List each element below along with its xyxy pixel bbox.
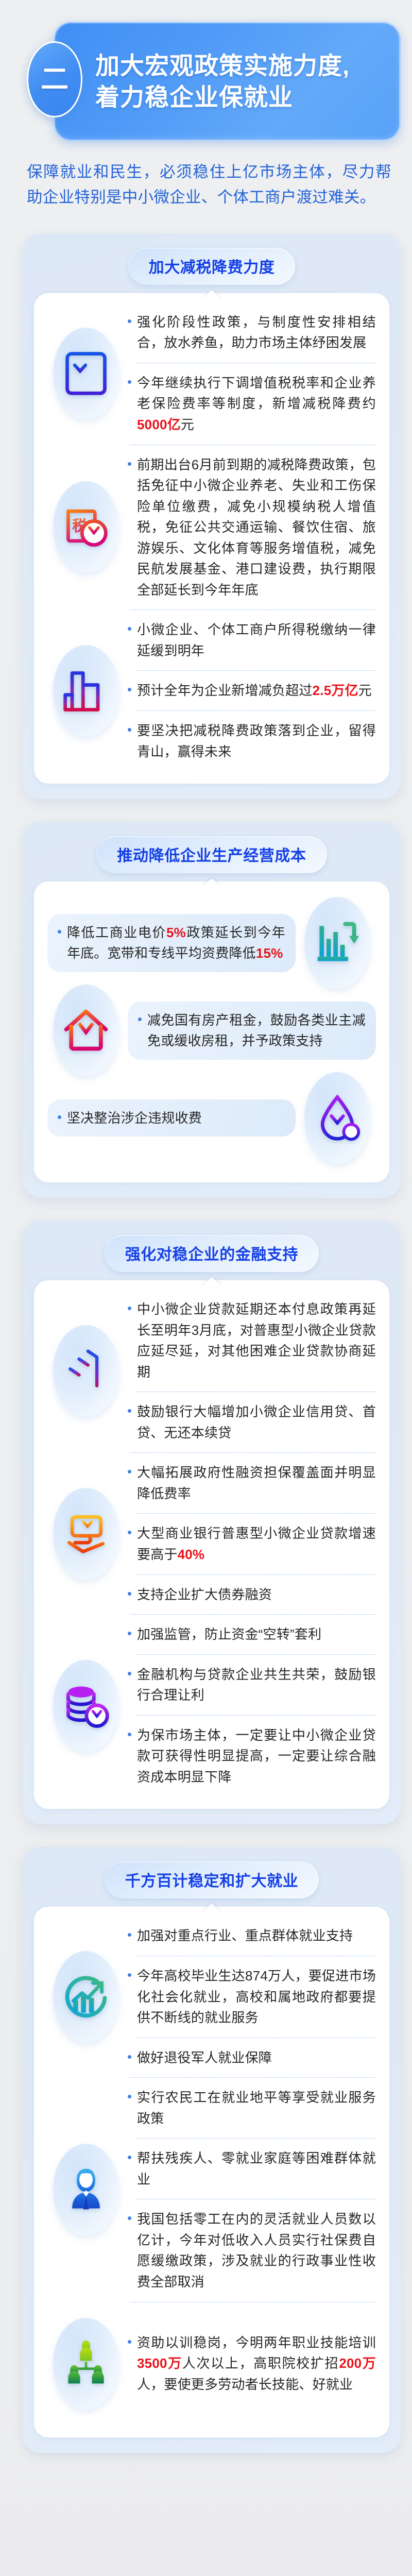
house-yuan-icon (61, 1006, 111, 1055)
highlight-number: 3500万 (137, 2355, 182, 2371)
highlight-number: 40% (178, 1547, 205, 1562)
policy-section: 推动降低企业生产经营成本 降低工商业电价5%政策延长到今年年底。宽带和专线平均资… (23, 822, 401, 1198)
row-icon-wrap: 税 (47, 474, 125, 580)
bullet-dot-icon (58, 1115, 61, 1119)
bullet-list: 实行农民工在就业地平等享受就业服务政策帮扶残疾人、零就业家庭等困难群体就业我国包… (128, 2086, 376, 2293)
bullet-text: 大幅拓展政府性融资担保覆盖面并明显降低费率 (137, 1462, 376, 1504)
bullet-item: 为保市场主体，一定要让中小微企业贷款可获得性明显提高，一定要让综合融资成本明显下… (128, 1724, 376, 1789)
bullet-separator (137, 363, 376, 363)
policy-row: 实行农民工在就业地平等享受就业服务政策帮扶残疾人、零就业家庭等困难群体就业我国包… (47, 2086, 376, 2293)
sections-container: 加大减税降费力度 强化阶段性政策，与制度性安排相结合，放水养鱼，助力市场主体纾困… (0, 233, 412, 2453)
highlight-number: 200万 (339, 2355, 376, 2371)
city-skyline-icon (61, 1346, 111, 1396)
bullet-list: 中小微企业贷款延期还本付息政策再延长至明年3月底，对普惠型小微企业贷款应延尽延，… (128, 1298, 376, 1444)
bullet-item: 降低工商业电价5%政策延长到今年年底。宽带和专线平均资费降低15% (58, 921, 285, 965)
section-body: 加强对重点行业、重点群体就业支持今年高校毕业生达874万人，要促进市场化社会化就… (34, 1907, 389, 2437)
bullet-list: 强化阶段性政策，与制度性安排相结合，放水养鱼，助力市场主体纾困发展今年继续执行下… (128, 311, 376, 436)
row-icon-wrap (47, 2137, 125, 2243)
bullet-list: 小微企业、个体工商户所得税缴纳一律延缓到明年预计全年为企业新增减负超过2.5万亿… (128, 618, 376, 763)
page-header: 加大宏观政策实施力度, 着力稳企业保就业 二 (27, 22, 401, 145)
bullet-dot-icon (128, 1672, 131, 1675)
row-icon-wrap (47, 638, 125, 744)
bullet-item: 做好退役军人就业保障 (128, 2046, 376, 2070)
policy-row: 中小微企业贷款延期还本付息政策再延长至明年3月底，对普惠型小微企业贷款应延尽延，… (47, 1298, 376, 1444)
bullet-item: 我国包括零工在内的灵活就业人员数以亿计，今年对低收入人员实行社保费自愿缓缴政策，… (128, 2208, 376, 2293)
row-icon-wrap (299, 899, 376, 987)
bar-chart-down-icon (313, 918, 362, 968)
bullet-text: 实行农民工在就业地平等享受就业服务政策 (137, 2087, 376, 2129)
bullet-dot-icon (128, 380, 131, 384)
section-body: 中小微企业贷款延期还本付息政策再延长至明年3月底，对普惠型小微企业贷款应延尽延，… (34, 1280, 389, 1809)
bullet-dot-icon (128, 2216, 131, 2220)
row-separator (130, 2077, 376, 2078)
row-icon-wrap (47, 320, 125, 427)
bullet-dot-icon (128, 2156, 131, 2159)
row-separator (130, 609, 376, 610)
row-icon-wrap (47, 987, 125, 1074)
buildings-icon (61, 666, 111, 716)
worker-person-icon (61, 2165, 111, 2214)
bullet-separator (137, 1574, 376, 1575)
policy-row: 小微企业、个体工商户所得税缴纳一律延缓到明年预计全年为企业新增减负超过2.5万亿… (47, 618, 376, 763)
bullet-list: 前期出台6月前到期的减税降费政策，包括免征中小微企业养老、失业和工伤保险单位缴费… (128, 453, 376, 602)
row-icon-wrap (47, 1944, 125, 2050)
row-icon-wrap (299, 1074, 376, 1162)
bullet-dot-icon (128, 1632, 131, 1635)
bullet-item: 预计全年为企业新增减负超过2.5万亿元 (128, 679, 376, 702)
row-separator (130, 2302, 376, 2302)
policy-section: 千方百计稳定和扩大就业 加强对重点行业、重点群体就业支持今年高校毕业生达874万… (23, 1847, 401, 2452)
growth-chart-icon (61, 1972, 111, 2022)
bullet-item: 中小微企业贷款延期还本付息政策再延长至明年3月底，对普惠型小微企业贷款应延尽延，… (128, 1298, 376, 1383)
policy-row: 降低工商业电价5%政策延长到今年年底。宽带和专线平均资费降低15% (47, 899, 376, 987)
policy-row: 大幅拓展政府性融资担保覆盖面并明显降低费率大型商业银行普惠型小微企业贷款增速要高… (47, 1461, 376, 1606)
droplet-yuan-minus-icon (313, 1093, 362, 1143)
section-title: 强化对稳企业的金融支持 (105, 1235, 319, 1272)
bullet-text: 降低工商业电价5%政策延长到今年年底。宽带和专线平均资费降低15% (67, 922, 285, 964)
bullet-item: 小微企业、个体工商户所得税缴纳一律延缓到明年 (128, 618, 376, 662)
bullet-text: 加强监管，防止资金“空转”套利 (137, 1624, 376, 1645)
bullet-item: 强化阶段性政策，与制度性安排相结合，放水养鱼，助力市场主体纾困发展 (128, 311, 376, 354)
bullet-text: 减免国有房产租金，鼓励各类业主减免或缓收房租，并予政策支持 (147, 1010, 366, 1052)
bullet-dot-icon (128, 1409, 131, 1413)
bullet-item: 加强监管，防止资金“空转”套利 (128, 1623, 376, 1646)
row-icon-wrap (47, 1318, 125, 1424)
intro-paragraph: 保障就业和民生，必须稳住上亿市场主体，尽力帮助企业特别是中小微企业、个体工商户渡… (27, 160, 391, 211)
bullet-list: 减免国有房产租金，鼓励各类业主减免或缓收房租，并予政策支持 (128, 1002, 376, 1060)
bullet-text: 金融机构与贷款企业共生共荣，鼓励银行合理让利 (137, 1664, 376, 1706)
bullet-list: 坚决整治涉企违规收费 (47, 1099, 296, 1137)
highlight-number: 5% (166, 925, 186, 940)
highlight-number: 5000亿 (137, 417, 181, 432)
bullet-dot-icon (128, 462, 131, 466)
bullet-list: 降低工商业电价5%政策延长到今年年底。宽带和专线平均资费降低15% (47, 914, 296, 972)
row-separator (130, 1452, 376, 1453)
bullet-dot-icon (128, 688, 131, 691)
bullet-dot-icon (128, 1592, 131, 1596)
bullet-dot-icon (128, 728, 131, 732)
bullet-text: 为保市场主体，一定要让中小微企业贷款可获得性明显提高，一定要让综合融资成本明显下… (137, 1725, 376, 1788)
bullet-separator (137, 710, 376, 711)
bullet-item: 大幅拓展政府性融资担保覆盖面并明显降低费率 (128, 1461, 376, 1505)
bullet-item: 今年高校毕业生达874万人，要促进市场化社会化就业，高校和属地政府都要提供不断线… (128, 1964, 376, 2029)
bullet-separator (137, 1392, 376, 1392)
policy-section: 强化对稳企业的金融支持 中小微企业贷款延期还本付息政策再延长至明年3月底，对普惠… (23, 1221, 401, 1824)
bullet-text: 帮扶残疾人、零就业家庭等困难群体就业 (137, 2148, 376, 2190)
section-title: 加大减税降费力度 (128, 248, 296, 285)
bullet-separator (137, 1513, 376, 1514)
bullet-dot-icon (138, 1018, 142, 1021)
bullet-text: 中小微企业贷款延期还本付息政策再延长至明年3月底，对普惠型小微企业贷款应延尽延，… (137, 1299, 376, 1382)
bullet-dot-icon (128, 2055, 131, 2059)
bullet-text: 预计全年为企业新增减负超过2.5万亿元 (137, 680, 376, 701)
bullet-separator (137, 1654, 376, 1655)
policy-row: 减免国有房产租金，鼓励各类业主减免或缓收房租，并予政策支持 (47, 987, 376, 1074)
section-body: 降低工商业电价5%政策延长到今年年底。宽带和专线平均资费降低15% 减免国有房产… (34, 882, 389, 1182)
tax-yuan-icon: 税 (61, 502, 111, 552)
title-notch-arrow (201, 1904, 222, 1913)
bullet-text: 资助以训稳岗，今明两年职业技能培训3500万人次以上，高职院校扩招200万人，要… (137, 2332, 376, 2395)
bullet-dot-icon (128, 2095, 131, 2098)
bullet-item: 今年继续执行下调增值税税率和企业养老保险费率等制度，新增减税降费约5000亿元 (128, 371, 376, 436)
row-icon-wrap (47, 1481, 125, 1587)
bullet-dot-icon (128, 319, 131, 323)
policy-row: 坚决整治涉企违规收费 (47, 1074, 376, 1162)
bullet-text: 要坚决把减税降费政策落到企业，留得青山，赢得未来 (137, 720, 376, 762)
bullet-text: 今年高校毕业生达874万人，要促进市场化社会化就业，高校和属地政府都要提供不断线… (137, 1965, 376, 2028)
bullet-list: 大幅拓展政府性融资担保覆盖面并明显降低费率大型商业银行普惠型小微企业贷款增速要高… (128, 1461, 376, 1606)
header-banner: 加大宏观政策实施力度, 着力稳企业保就业 (54, 22, 401, 141)
policy-row: 资助以训稳岗，今明两年职业技能培训3500万人次以上，高职院校扩招200万人，要… (47, 2311, 376, 2417)
bullet-separator (137, 2199, 376, 2199)
bullet-separator (137, 1956, 376, 1956)
bullet-dot-icon (128, 1733, 131, 1736)
bullet-text: 坚决整治涉企违规收费 (67, 1108, 285, 1129)
section-body: 强化阶段性政策，与制度性安排相结合，放水养鱼，助力市场主体纾困发展今年继续执行下… (34, 293, 389, 784)
bullet-separator (137, 1715, 376, 1716)
training-people-icon (61, 2339, 111, 2388)
title-notch-arrow (201, 878, 222, 888)
bullet-dot-icon (58, 930, 61, 934)
bullet-text: 强化阶段性政策，与制度性安排相结合，放水养鱼，助力市场主体纾困发展 (137, 312, 376, 353)
bullet-item: 支持企业扩大债券融资 (128, 1583, 376, 1606)
bullet-item: 鼓励银行大幅增加小微企业信用贷、首贷、无还本续贷 (128, 1400, 376, 1444)
hand-money-icon (61, 1509, 111, 1558)
row-icon-wrap (47, 2311, 125, 2417)
bullet-item: 前期出台6月前到期的减税降费政策，包括免征中小微企业养老、失业和工伤保险单位缴费… (128, 453, 376, 602)
bullet-item: 资助以训稳岗，今明两年职业技能培训3500万人次以上，高职院校扩招200万人，要… (128, 2331, 376, 2396)
bullet-item: 坚决整治涉企违规收费 (58, 1107, 285, 1130)
bullet-item: 实行农民工在就业地平等享受就业服务政策 (128, 2086, 376, 2130)
bullet-separator (137, 670, 376, 671)
bullet-dot-icon (128, 1470, 131, 1473)
bullet-text: 支持企业扩大债券融资 (137, 1584, 376, 1605)
bullet-item: 减免国有房产租金，鼓励各类业主减免或缓收房租，并予政策支持 (138, 1009, 366, 1053)
bullet-list: 加强监管，防止资金“空转”套利金融机构与贷款企业共生共荣，鼓励银行合理让利为保市… (128, 1623, 376, 1788)
bullet-item: 要坚决把减税降费政策落到企业，留得青山，赢得未来 (128, 719, 376, 763)
title-notch-arrow (201, 1277, 222, 1286)
bullet-item: 帮扶残疾人、零就业家庭等困难群体就业 (128, 2147, 376, 2191)
bullet-item: 加强对重点行业、重点群体就业支持 (128, 1924, 376, 1947)
page-title-line-2: 着力稳企业保就业 (95, 81, 386, 113)
policy-row: 加强监管，防止资金“空转”套利金融机构与贷款企业共生共荣，鼓励银行合理让利为保市… (47, 1623, 376, 1788)
bullet-item: 金融机构与贷款企业共生共荣，鼓励银行合理让利 (128, 1663, 376, 1707)
calculator-yuan-icon (61, 349, 111, 398)
bullet-text: 大型商业银行普惠型小微企业贷款增速要高于40% (137, 1523, 376, 1565)
bullet-text: 小微企业、个体工商户所得税缴纳一律延缓到明年 (137, 619, 376, 661)
row-separator (130, 445, 376, 445)
bullet-text: 我国包括零工在内的灵活就业人员数以亿计，今年对低收入人员实行社保费自愿缓缴政策，… (137, 2209, 376, 2292)
bullet-list: 加强对重点行业、重点群体就业支持今年高校毕业生达874万人，要促进市场化社会化就… (128, 1924, 376, 2069)
bullet-separator (137, 2038, 376, 2038)
page-title-line-1: 加大宏观政策实施力度, (95, 50, 386, 81)
bullet-separator (137, 2138, 376, 2139)
section-number-badge: 二 (27, 41, 82, 117)
row-icon-wrap (47, 1653, 125, 1759)
bullet-item: 大型商业银行普惠型小微企业贷款增速要高于40% (128, 1522, 376, 1566)
bullet-text: 鼓励银行大幅增加小微企业信用贷、首贷、无还本续贷 (137, 1401, 376, 1443)
bullet-dot-icon (128, 2340, 131, 2344)
bullet-dot-icon (128, 1307, 131, 1310)
bullet-dot-icon (128, 1531, 131, 1534)
title-notch-arrow (201, 290, 222, 299)
bullet-text: 今年继续执行下调增值税税率和企业养老保险费率等制度，新增减税降费约5000亿元 (137, 372, 376, 435)
bullet-dot-icon (128, 1973, 131, 1977)
policy-row: 税 前期出台6月前到期的减税降费政策，包括免征中小微企业养老、失业和工伤保险单位… (47, 453, 376, 602)
section-number-text: 二 (41, 65, 68, 93)
bullet-text: 前期出台6月前到期的减税降费政策，包括免征中小微企业养老、失业和工伤保险单位缴费… (137, 454, 376, 601)
row-separator (130, 1614, 376, 1615)
highlight-number: 15% (256, 945, 283, 961)
policy-row: 加强对重点行业、重点群体就业支持今年高校毕业生达874万人，要促进市场化社会化就… (47, 1924, 376, 2069)
policy-row: 强化阶段性政策，与制度性安排相结合，放水养鱼，助力市场主体纾困发展今年继续执行下… (47, 311, 376, 436)
bullet-text: 加强对重点行业、重点群体就业支持 (137, 1925, 376, 1946)
section-title: 千方百计稳定和扩大就业 (105, 1861, 319, 1899)
bullet-dot-icon (128, 1933, 131, 1937)
policy-section: 加大减税降费力度 强化阶段性政策，与制度性安排相结合，放水养鱼，助力市场主体纾困… (23, 233, 401, 799)
coins-yuan-icon (61, 1681, 111, 1731)
bullet-list: 资助以训稳岗，今明两年职业技能培训3500万人次以上，高职院校扩招200万人，要… (128, 2331, 376, 2396)
bullet-dot-icon (128, 627, 131, 631)
section-title: 推动降低企业生产经营成本 (96, 836, 327, 873)
bullet-text: 做好退役军人就业保障 (137, 2047, 376, 2069)
highlight-number: 2.5万亿 (313, 683, 358, 698)
